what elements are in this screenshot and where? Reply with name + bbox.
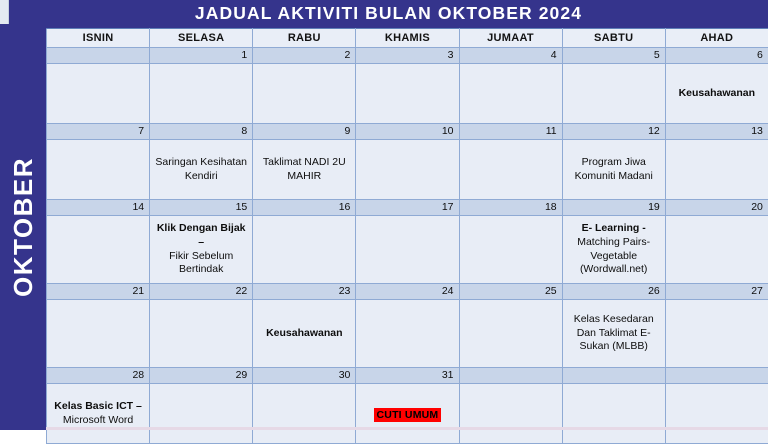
day-header-selasa: SELASA [150,29,253,48]
week-3-event-row: Klik Dengan Bijak –Fikir Sebelum Bertind… [47,216,768,284]
day-header-ahad: AHAD [665,29,768,48]
date-cell: 7 [47,124,150,140]
week-1-number-row: 1 2 3 4 5 6 [47,48,768,64]
date-cell: 2 [253,48,356,64]
event-cell[interactable] [47,300,150,368]
date-cell: 27 [665,284,768,300]
day-of-week-header-row: ISNIN SELASA RABU KHAMIS JUMAAT SABTU AH… [47,29,768,48]
event-cell[interactable]: Klik Dengan Bijak –Fikir Sebelum Bertind… [150,216,253,284]
date-cell: 25 [459,284,562,300]
event-title-bold: Klik Dengan Bijak – [154,222,248,250]
event-cell[interactable] [47,216,150,284]
event-cell[interactable] [356,216,459,284]
event-cell[interactable] [47,64,150,124]
date-cell: 8 [150,124,253,140]
date-cell: 14 [47,200,150,216]
date-cell [47,48,150,64]
date-cell: 1 [150,48,253,64]
event-cell[interactable] [47,140,150,200]
event-cell[interactable] [665,384,768,444]
event-title-regular: Microsoft Word [51,414,145,428]
date-cell: 9 [253,124,356,140]
month-label: OKTOBER [10,157,36,297]
title-banner: JADUAL AKTIVITI BULAN OKTOBER 2024 [9,0,768,28]
date-cell: 5 [562,48,665,64]
date-cell: 24 [356,284,459,300]
event-title-bold: Kelas Basic ICT – [51,400,145,414]
event-cell[interactable]: Kelas Basic ICT –Microsoft Word [47,384,150,444]
event-cell[interactable] [150,300,253,368]
date-cell: 23 [253,284,356,300]
week-4-number-row: 21 22 23 24 25 26 27 [47,284,768,300]
date-cell: 29 [150,368,253,384]
week-1-event-row: Keusahawanan [47,64,768,124]
event-cell[interactable] [459,64,562,124]
date-cell: 16 [253,200,356,216]
date-cell: 12 [562,124,665,140]
week-5-number-row: 28 29 30 31 [47,368,768,384]
event-cell[interactable] [665,140,768,200]
week-3-number-row: 14 15 16 17 18 19 20 [47,200,768,216]
event-cell[interactable] [459,216,562,284]
event-title-regular: Matching Pairs- Vegetable (Wordwall.net) [567,236,661,278]
day-header-rabu: RABU [253,29,356,48]
date-cell: 11 [459,124,562,140]
event-title-bold: E- Learning - [567,222,661,236]
date-cell: 17 [356,200,459,216]
event-cell[interactable] [665,300,768,368]
event-cell[interactable] [356,300,459,368]
date-cell: 20 [665,200,768,216]
event-title-regular: Fikir Sebelum Bertindak [154,250,248,278]
date-cell: 13 [665,124,768,140]
date-cell: 10 [356,124,459,140]
event-title-regular: Saringan Kesihatan Kendiri [154,156,248,184]
week-4-event-row: Keusahawanan Kelas Kesedaran Dan Taklima… [47,300,768,368]
event-title-regular: Taklimat NADI 2U MAHIR [257,156,351,184]
event-title-regular: Program Jiwa Komuniti Madani [567,156,661,184]
week-2-event-row: Saringan Kesihatan Kendiri Taklimat NADI… [47,140,768,200]
date-cell: 21 [47,284,150,300]
holiday-badge: CUTI UMUM [374,408,442,423]
calendar-body: 1 2 3 4 5 6 Keusahawanan 7 8 9 [47,48,768,444]
event-cell[interactable] [459,300,562,368]
event-cell[interactable] [459,140,562,200]
event-cell[interactable]: Keusahawanan [253,300,356,368]
date-cell: 6 [665,48,768,64]
day-header-isnin: ISNIN [47,29,150,48]
event-cell[interactable]: Program Jiwa Komuniti Madani [562,140,665,200]
date-cell: 30 [253,368,356,384]
date-cell: 19 [562,200,665,216]
event-cell[interactable] [150,64,253,124]
event-cell[interactable]: CUTI UMUM [356,384,459,444]
event-cell[interactable] [562,64,665,124]
corner-notch [0,0,9,24]
event-title-bold: Keusahawanan [257,327,351,341]
event-cell[interactable] [459,384,562,444]
event-cell[interactable]: Taklimat NADI 2U MAHIR [253,140,356,200]
event-cell[interactable] [253,216,356,284]
calendar-page: JADUAL AKTIVITI BULAN OKTOBER 2024 OKTOB… [0,0,768,430]
event-cell[interactable]: Kelas Kesedaran Dan Taklimat E-Sukan (ML… [562,300,665,368]
week-5-event-row: Kelas Basic ICT –Microsoft Word CUTI UMU… [47,384,768,444]
event-cell[interactable]: Saringan Kesihatan Kendiri [150,140,253,200]
date-cell: 3 [356,48,459,64]
event-title-bold: Keusahawanan [670,87,764,101]
date-cell [459,368,562,384]
date-cell: 26 [562,284,665,300]
month-spine: OKTOBER [0,24,46,430]
date-cell: 15 [150,200,253,216]
event-cell[interactable] [356,64,459,124]
date-cell [665,368,768,384]
day-header-jumaat: JUMAAT [459,29,562,48]
day-header-sabtu: SABTU [562,29,665,48]
activity-calendar-table: ISNIN SELASA RABU KHAMIS JUMAAT SABTU AH… [46,28,768,444]
event-cell[interactable] [150,384,253,444]
event-cell[interactable] [356,140,459,200]
event-cell[interactable] [665,216,768,284]
event-cell[interactable]: Keusahawanan [665,64,768,124]
event-cell[interactable]: E- Learning -Matching Pairs- Vegetable (… [562,216,665,284]
day-header-khamis: KHAMIS [356,29,459,48]
event-cell[interactable] [562,384,665,444]
date-cell: 4 [459,48,562,64]
date-cell: 22 [150,284,253,300]
event-cell[interactable] [253,64,356,124]
week-2-number-row: 7 8 9 10 11 12 13 [47,124,768,140]
page-title: JADUAL AKTIVITI BULAN OKTOBER 2024 [195,5,582,23]
date-cell: 28 [47,368,150,384]
event-cell[interactable] [253,384,356,444]
date-cell: 31 [356,368,459,384]
event-title-regular: Kelas Kesedaran Dan Taklimat E-Sukan (ML… [567,313,661,355]
date-cell [562,368,665,384]
date-cell: 18 [459,200,562,216]
